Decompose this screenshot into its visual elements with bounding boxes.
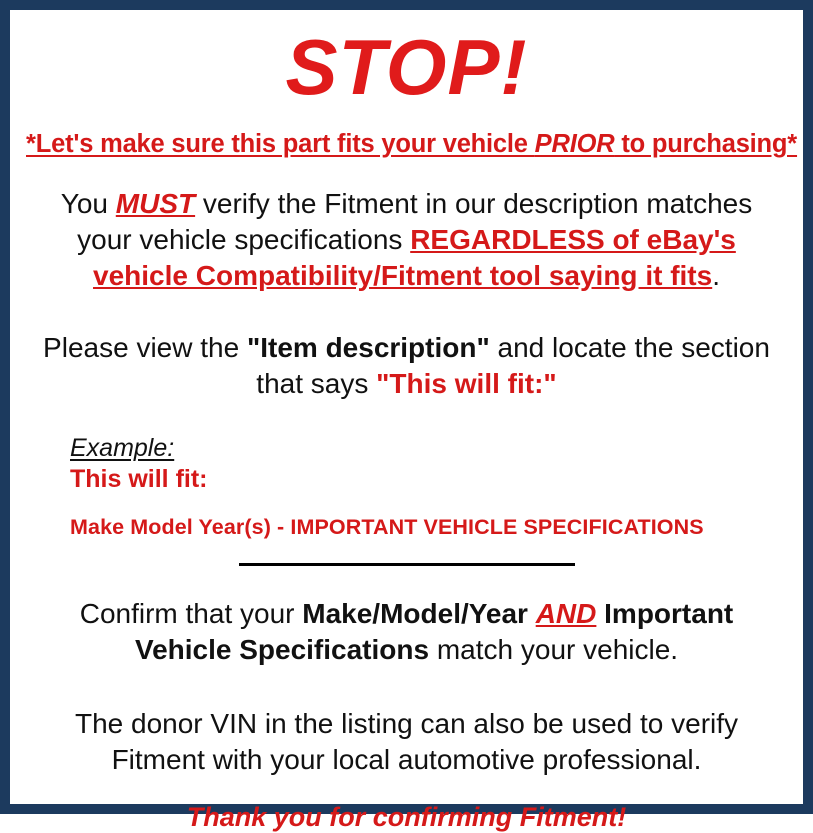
fitment-notice-card: STOP! *Let's make sure this part fits yo… — [0, 0, 813, 814]
example-label: Example: — [70, 435, 787, 461]
must-emphasis: MUST — [116, 188, 195, 219]
thank-you-line: Thank you for confirming Fitment! — [26, 802, 787, 833]
subheadline-prefix: *Let's make sure this part fits your veh… — [26, 130, 535, 158]
must-verify-paragraph: You MUST verify the Fitment in our descr… — [26, 186, 787, 293]
donor-vin-paragraph: The donor VIN in the listing can also be… — [26, 706, 787, 778]
must-seg-5: . — [712, 260, 720, 291]
make-model-year-emphasis: Make/Model/Year — [302, 598, 528, 629]
confirm-seg-1: Confirm that your — [80, 598, 303, 629]
view-seg-1: Please view the — [43, 332, 247, 363]
this-will-fit-emphasis: "This will fit:" — [376, 368, 557, 399]
horizontal-divider — [239, 563, 575, 566]
item-description-emphasis: "Item description" — [247, 332, 490, 363]
subheadline: *Let's make sure this part fits your veh… — [26, 130, 787, 159]
page-title: STOP! — [26, 28, 787, 106]
and-emphasis: AND — [536, 598, 597, 629]
view-description-paragraph: Please view the "Item description" and l… — [26, 330, 787, 402]
subheadline-emphasis-prior: PRIOR — [535, 130, 615, 158]
must-seg-1: You — [61, 188, 116, 219]
confirm-seg-5: match your vehicle. — [429, 634, 678, 665]
example-block: Example: This will fit: Make Model Year(… — [26, 435, 787, 539]
example-fit-heading: This will fit: — [70, 464, 787, 494]
notice-body: STOP! *Let's make sure this part fits yo… — [10, 10, 803, 804]
confirm-paragraph: Confirm that your Make/Model/Year AND Im… — [26, 596, 787, 668]
subheadline-suffix: to purchasing* — [614, 130, 797, 158]
example-spec-line: Make Model Year(s) - IMPORTANT VEHICLE S… — [70, 516, 787, 540]
divider-wrapper — [26, 563, 787, 566]
